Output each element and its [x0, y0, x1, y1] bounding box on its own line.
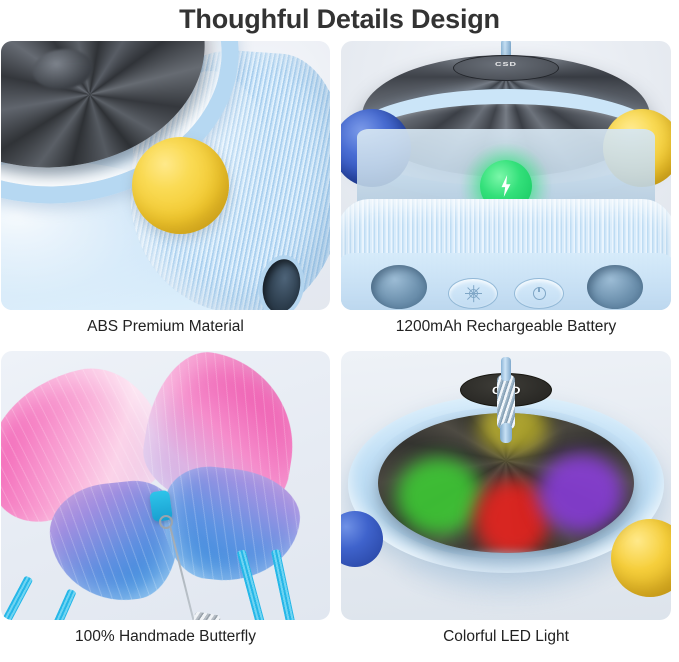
spring-coil — [183, 611, 221, 620]
panel-led-light: CSD Colorful LED Light — [341, 351, 671, 622]
panel-caption-led-light: Colorful LED Light — [341, 626, 671, 648]
panel-abs-material: ABS Premium Material — [1, 41, 330, 312]
ribbon-streamer — [1, 575, 33, 620]
turbine-cap — [453, 55, 559, 81]
ball-track-hole-left — [371, 265, 427, 309]
surface-reflection — [386, 551, 626, 611]
battery-image: CSD — [341, 41, 671, 310]
led-purple — [538, 453, 624, 533]
wand-stick — [501, 357, 511, 381]
abs-material-image — [1, 41, 330, 310]
panel-caption-abs-material: ABS Premium Material — [1, 316, 330, 338]
light-mode-button[interactable] — [448, 278, 498, 309]
power-button[interactable] — [514, 278, 564, 309]
ribbon-streamer — [271, 549, 296, 620]
brand-logo-top: CSD — [480, 61, 532, 67]
panel-caption-battery: 1200mAh Rechargeable Battery — [341, 316, 671, 338]
panel-butterfly: 100% Handmade Butterfly — [1, 351, 330, 622]
ball-track-hole-right — [587, 265, 643, 309]
ribbon-streamer — [38, 588, 76, 620]
yellow-ball — [132, 137, 229, 234]
sun-icon — [469, 289, 478, 298]
page-title: Thoughful Details Design — [0, 2, 679, 36]
panel-caption-butterfly: 100% Handmade Butterfly — [1, 626, 330, 648]
panel-grid: ABS Premium Material CSD — [0, 41, 679, 662]
spring-coil — [497, 375, 515, 429]
led-light-image: CSD — [341, 351, 671, 620]
butterfly-image — [1, 351, 330, 620]
power-icon — [533, 287, 546, 300]
led-green — [396, 457, 482, 535]
infographic-page: Thoughful Details Design ABS Premium Mat… — [0, 0, 679, 662]
spring-tip — [500, 423, 512, 443]
lightning-bolt-icon — [499, 175, 513, 197]
panel-battery: CSD — [341, 41, 671, 312]
